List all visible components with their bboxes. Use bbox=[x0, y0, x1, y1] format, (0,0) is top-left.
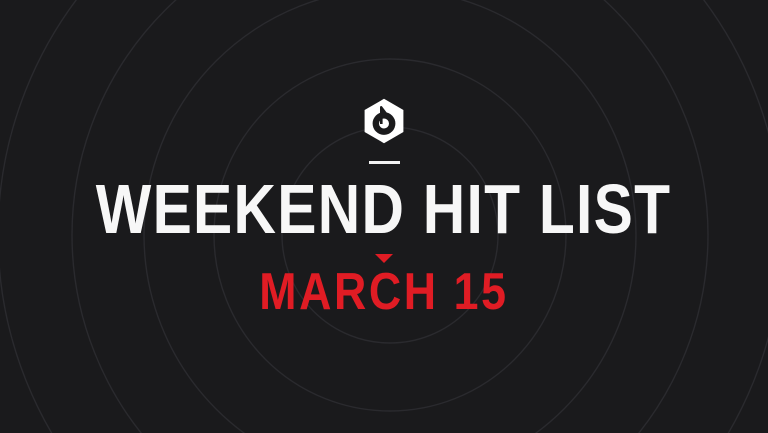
horizontal-rule-divider bbox=[369, 161, 400, 164]
poster-content: WEEKEND HIT LIST MARCH 15 bbox=[0, 0, 768, 433]
beats-hexagon-logo-icon bbox=[362, 98, 406, 144]
poster-canvas: WEEKEND HIT LIST MARCH 15 bbox=[0, 0, 768, 433]
page-title: WEEKEND HIT LIST bbox=[96, 183, 671, 236]
poster-date: MARCH 15 bbox=[259, 272, 508, 314]
triangle-down-icon bbox=[375, 254, 393, 263]
